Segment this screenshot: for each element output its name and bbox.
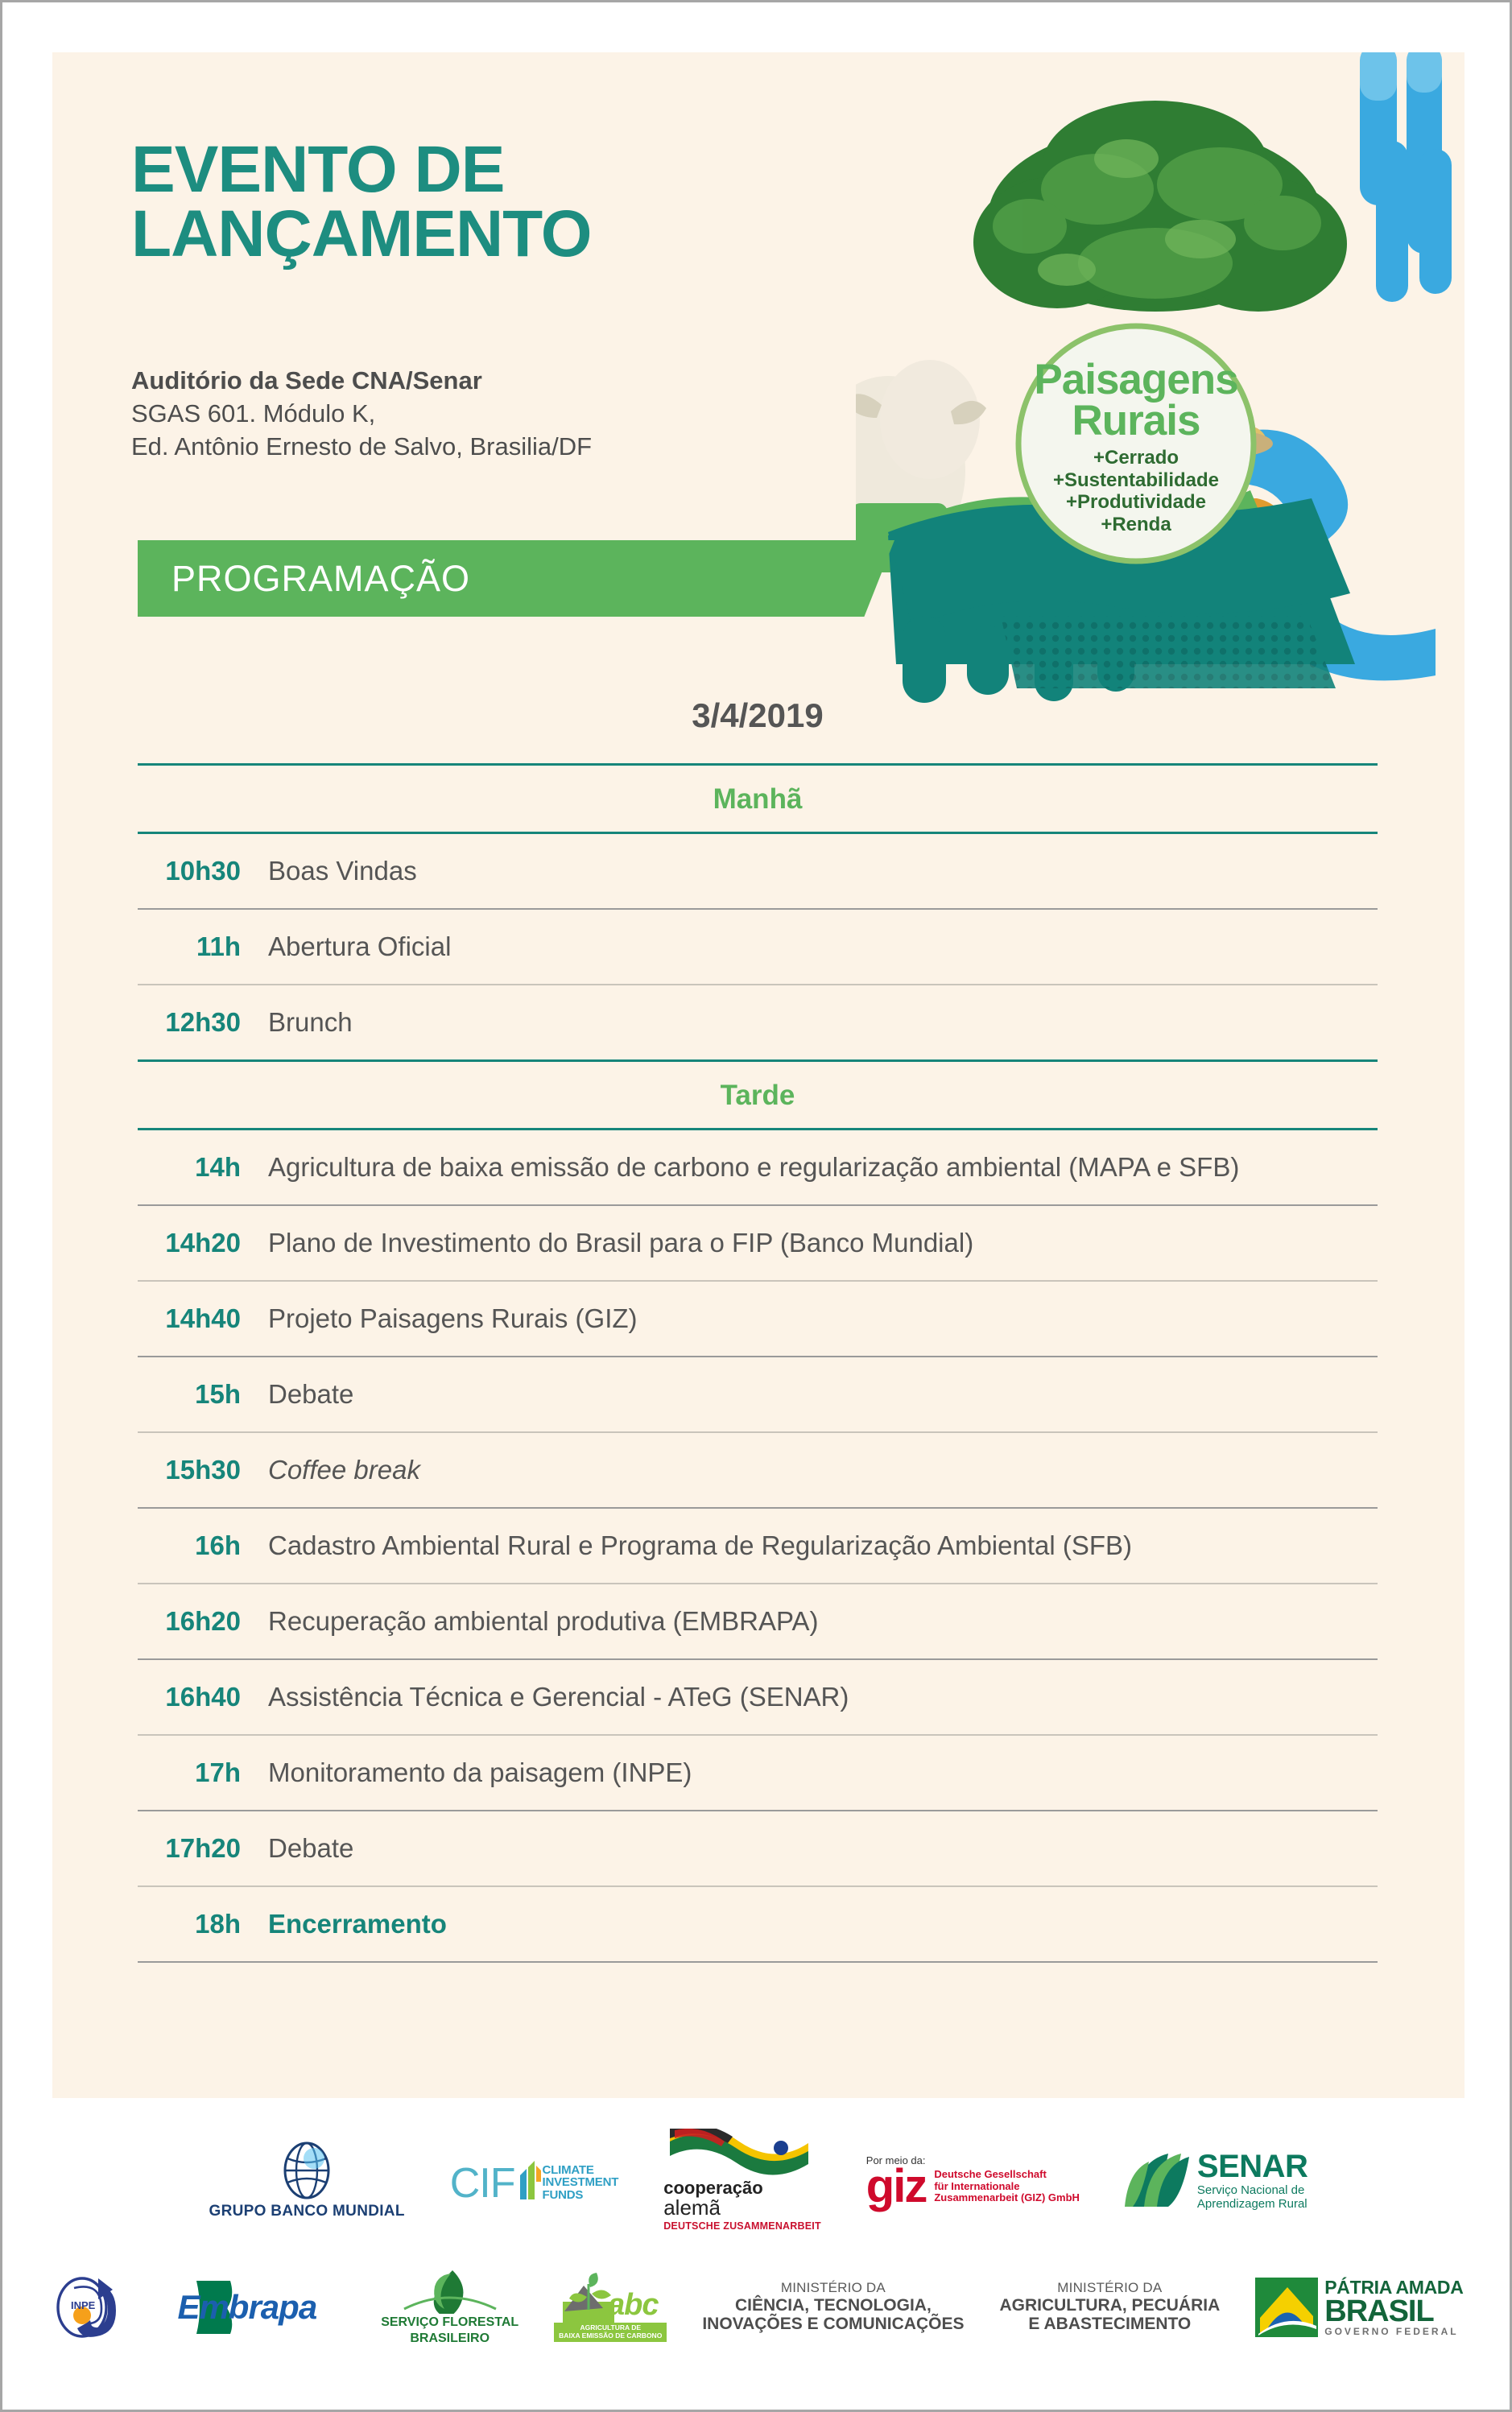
programacao-banner: PROGRAMAÇÃO xyxy=(138,540,894,617)
event-date: 3/4/2019 xyxy=(138,696,1378,735)
mapa-line-2: E ABASTECIMENTO xyxy=(1028,2315,1191,2334)
table-row: 18hEncerramento xyxy=(138,1887,1378,1961)
logo-abc: abc AGRICULTURA DE BAIXA EMISSÃO DE CARB… xyxy=(554,2273,667,2341)
brasil-flag-icon xyxy=(1255,2278,1318,2337)
logo-servico-florestal: SERVIÇO FLORESTAL BRASILEIRO xyxy=(381,2269,518,2346)
venue-address-line-2: Ed. Antônio Ernesto de Salvo, Brasilia/D… xyxy=(131,431,592,464)
table-row: 12h30Brunch xyxy=(138,985,1378,1059)
senar-sub-2: Aprendizagem Rural xyxy=(1197,2197,1308,2211)
row-description: Boas Vindas xyxy=(258,853,1378,890)
row-description: Recuperação ambiental produtiva (EMBRAPA… xyxy=(258,1604,1378,1640)
senar-text: SENAR Serviço Nacional de Aprendizagem R… xyxy=(1197,2150,1308,2212)
table-row: 14hAgricultura de baixa emissão de carbo… xyxy=(138,1130,1378,1204)
sponsor-footer: GRUPO BANCO MUNDIAL CIF CLIMATE INVESTME… xyxy=(52,2104,1464,2410)
cooperacao-line-1: cooperação xyxy=(663,2179,763,2197)
row-description: Abertura Oficial xyxy=(258,929,1378,965)
table-row: 15h30Coffee break xyxy=(138,1433,1378,1507)
section-heading: Tarde xyxy=(138,1062,1378,1128)
section-heading: Manhã xyxy=(138,766,1378,832)
svg-text:INPE: INPE xyxy=(71,2299,96,2311)
giz-line-2: für Internationale xyxy=(934,2181,1080,2193)
cif-lines: CLIMATE INVESTMENT FUNDS xyxy=(543,2164,619,2201)
cif-line-2: INVESTMENT xyxy=(543,2176,619,2188)
row-time: 18h xyxy=(138,1909,258,1939)
row-time: 16h xyxy=(138,1530,258,1561)
row-description: Monitoramento da paisagem (INPE) xyxy=(258,1755,1378,1791)
mapa-top: MINISTÉRIO DA xyxy=(1057,2281,1162,2296)
row-time: 15h30 xyxy=(138,1455,258,1485)
sfb-leaf-icon xyxy=(403,2269,498,2314)
cif-mark: CIF xyxy=(450,2166,515,2201)
senar-sub-1: Serviço Nacional de xyxy=(1197,2183,1308,2197)
row-time: 12h30 xyxy=(138,1007,258,1038)
table-row: 16h20Recuperação ambiental produtiva (EM… xyxy=(138,1584,1378,1658)
brasil-text: PÁTRIA AMADA BRASIL GOVERNO FEDERAL xyxy=(1324,2278,1463,2336)
embrapa-label: Embrapa xyxy=(177,2288,316,2327)
giz-line-3: Zusammenarbeit (GIZ) GmbH xyxy=(934,2192,1080,2204)
logo-cooperacao-alema: cooperação alemã DEUTSCHE ZUSAMMENARBEIT xyxy=(663,2129,821,2232)
venue-block: Auditório da Sede CNA/Senar SGAS 601. Mó… xyxy=(131,365,592,464)
mcti-line-1: CIÊNCIA, TECNOLOGIA, xyxy=(735,2296,932,2315)
row-description: Cadastro Ambiental Rural e Programa de R… xyxy=(258,1528,1378,1564)
row-time: 10h30 xyxy=(138,856,258,886)
venue-address-line-1: SGAS 601. Módulo K, xyxy=(131,398,592,431)
abc-plant-icon xyxy=(563,2273,614,2323)
cif-line-3: FUNDS xyxy=(543,2189,619,2201)
row-time: 14h40 xyxy=(138,1303,258,1334)
table-row: 16hCadastro Ambiental Rural e Programa d… xyxy=(138,1509,1378,1583)
sfb-line-2: BRASILEIRO xyxy=(410,2331,490,2346)
senar-wheat-icon xyxy=(1125,2150,1189,2210)
row-description: Debate xyxy=(258,1377,1378,1413)
giz-mark: giz xyxy=(866,2168,927,2205)
logo-senar: SENAR Serviço Nacional de Aprendizagem R… xyxy=(1125,2150,1308,2212)
table-row: 15hDebate xyxy=(138,1357,1378,1431)
row-description: Agricultura de baixa emissão de carbono … xyxy=(258,1150,1378,1186)
sponsor-row-bottom: INPE Embrapa SERVIÇO FLORESTAL BRASILEIR… xyxy=(52,2247,1464,2368)
blue-drips xyxy=(1360,52,1452,302)
row-time: 17h20 xyxy=(138,1833,258,1864)
table-row: 11hAbertura Oficial xyxy=(138,910,1378,984)
row-description: Encerramento xyxy=(258,1906,1378,1943)
logo-inpe: INPE xyxy=(53,2275,127,2340)
row-time: 14h xyxy=(138,1152,258,1183)
logo-cif: CIF CLIMATE INVESTMENT FUNDS xyxy=(450,2159,618,2201)
row-time: 11h xyxy=(138,931,258,962)
abc-mark: abc xyxy=(608,2288,658,2323)
table-row: 14h40Projeto Paisagens Rurais (GIZ) xyxy=(138,1282,1378,1356)
sfb-line-1: SERVIÇO FLORESTAL xyxy=(381,2315,518,2330)
logo-governo-federal: PÁTRIA AMADA BRASIL GOVERNO FEDERAL xyxy=(1255,2278,1463,2337)
logo-ministerio-ciencia: MINISTÉRIO DA CIÊNCIA, TECNOLOGIA, INOVA… xyxy=(702,2281,964,2334)
row-time: 16h40 xyxy=(138,1682,258,1712)
cif-line-1: CLIMATE xyxy=(543,2164,619,2176)
row-description: Plano de Investimento do Brasil para o F… xyxy=(258,1225,1378,1262)
schedule-table: Manhã10h30Boas Vindas11hAbertura Oficial… xyxy=(138,763,1378,1963)
sponsor-row-top: GRUPO BANCO MUNDIAL CIF CLIMATE INVESTME… xyxy=(52,2120,1464,2241)
mapa-line-1: AGRICULTURA, PECUÁRIA xyxy=(999,2296,1220,2315)
abc-sub-line-2: BAIXA EMISSÃO DE CARBONO xyxy=(559,2331,662,2340)
logo-world-bank: GRUPO BANCO MUNDIAL xyxy=(209,2141,405,2220)
brasil-line-3: GOVERNO FEDERAL xyxy=(1324,2327,1463,2336)
row-description: Assistência Técnica e Gerencial - ATeG (… xyxy=(258,1679,1378,1716)
row-description: Coffee break xyxy=(258,1452,1378,1489)
logo-circle xyxy=(1018,326,1254,561)
table-row: 10h30Boas Vindas xyxy=(138,834,1378,908)
table-row: 16h40Assistência Técnica e Gerencial - A… xyxy=(138,1660,1378,1734)
page-title: EVENTO DE LANÇAMENTO xyxy=(131,138,592,267)
world-bank-label: GRUPO BANCO MUNDIAL xyxy=(209,2203,405,2220)
venue-name: Auditório da Sede CNA/Senar xyxy=(131,365,592,398)
mcti-line-2: INOVAÇÕES E COMUNICAÇÕES xyxy=(702,2315,964,2334)
logo-ministerio-agricultura: MINISTÉRIO DA AGRICULTURA, PECUÁRIA E AB… xyxy=(999,2281,1220,2334)
row-time: 16h20 xyxy=(138,1606,258,1637)
logo-embrapa: Embrapa xyxy=(163,2276,345,2339)
cif-leaf-icon xyxy=(517,2159,541,2201)
mcti-top: MINISTÉRIO DA xyxy=(781,2281,886,2296)
row-rule xyxy=(138,1961,1378,1963)
row-time: 17h xyxy=(138,1757,258,1788)
cooperacao-line-3: DEUTSCHE ZUSAMMENARBEIT xyxy=(663,2220,821,2232)
abc-sub-line-1: AGRICULTURA DE xyxy=(580,2323,641,2331)
row-time: 15h xyxy=(138,1379,258,1410)
brasil-line-2: BRASIL xyxy=(1324,2297,1463,2326)
table-row: 17h20Debate xyxy=(138,1811,1378,1885)
senar-mark: SENAR xyxy=(1197,2150,1308,2183)
paisagens-rurais-artwork: Paisagens Rurais +Cerrado +Sustentabilid… xyxy=(856,52,1468,712)
table-row: 17hMonitoramento da paisagem (INPE) xyxy=(138,1736,1378,1810)
cooperacao-line-2: alemã xyxy=(663,2197,721,2219)
giz-lines: Deutsche Gesellschaft für Internationale… xyxy=(934,2154,1080,2204)
artwork-svg xyxy=(856,52,1468,712)
globe-icon xyxy=(277,2141,337,2200)
row-time: 14h20 xyxy=(138,1228,258,1258)
giz-line-1: Deutsche Gesellschaft xyxy=(934,2169,1080,2181)
row-description: Brunch xyxy=(258,1005,1378,1041)
abc-sub: AGRICULTURA DE BAIXA EMISSÃO DE CARBONO xyxy=(554,2323,667,2341)
german-brazil-flag-ribbon-icon xyxy=(667,2129,812,2179)
row-description: Debate xyxy=(258,1831,1378,1867)
row-description: Projeto Paisagens Rurais (GIZ) xyxy=(258,1301,1378,1337)
logo-giz: Por meio da: giz Deutsche Gesellschaft f… xyxy=(866,2154,1080,2205)
poster-page: Paisagens Rurais +Cerrado +Sustentabilid… xyxy=(0,0,1512,2412)
programacao-label: PROGRAMAÇÃO xyxy=(171,558,470,600)
inpe-icon: INPE xyxy=(53,2275,127,2340)
table-row: 14h20Plano de Investimento do Brasil par… xyxy=(138,1206,1378,1280)
